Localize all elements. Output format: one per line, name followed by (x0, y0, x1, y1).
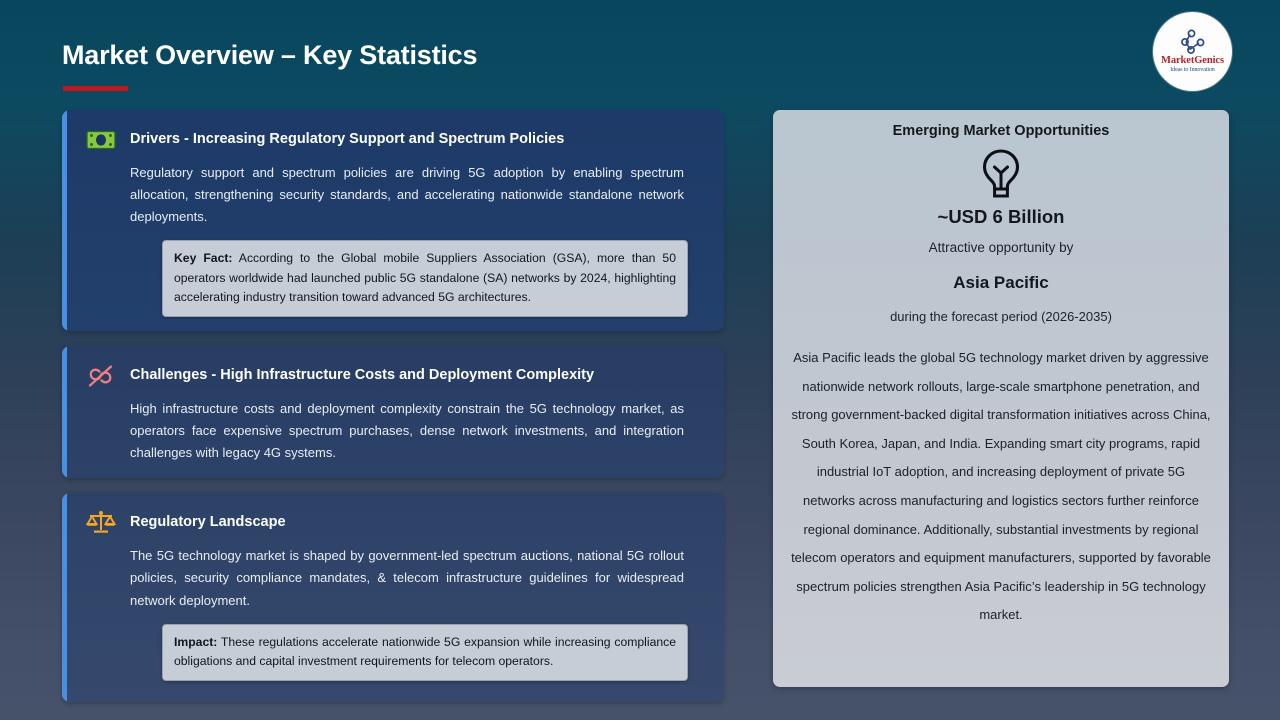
panel-description-paragraph: Asia Pacific leads the global 5G technol… (791, 344, 1211, 630)
title-underline-accent (63, 86, 128, 91)
panel-title: Emerging Market Opportunities (791, 123, 1211, 139)
node-network-icon (1178, 29, 1208, 56)
impact-callout: Impact: These regulations accelerate nat… (162, 624, 688, 682)
card-body-text: Regulatory support and spectrum policies… (130, 162, 702, 228)
callout-text: These regulations accelerate nationwide … (174, 635, 676, 668)
logo-name: MarketGenics (1161, 56, 1224, 67)
panel-subtitle-attractive: Attractive opportunity by (791, 240, 1211, 255)
banknote-icon (84, 123, 118, 157)
card-regulatory-landscape: Regulatory Landscape The 5G technology m… (62, 493, 724, 702)
card-drivers: Drivers - Increasing Regulatory Support … (62, 110, 724, 331)
card-title: Regulatory Landscape (130, 507, 286, 531)
lightbulb-icon (791, 148, 1211, 200)
callout-text: According to the Global mobile Suppliers… (174, 251, 676, 304)
page-title: Market Overview – Key Statistics (62, 40, 477, 71)
insight-cards-column: Drivers - Increasing Regulatory Support … (62, 110, 724, 717)
callout-label: Impact: (174, 635, 217, 649)
panel-opportunity-value: ~USD 6 Billion (791, 206, 1211, 228)
panel-region-name: Asia Pacific (791, 273, 1211, 293)
card-body-text: High infrastructure costs and deployment… (130, 398, 702, 464)
emerging-opportunities-panel: Emerging Market Opportunities ~USD 6 Bil… (773, 110, 1229, 687)
card-header: Drivers - Increasing Regulatory Support … (84, 124, 702, 157)
card-header: Challenges - High Infrastructure Costs a… (84, 360, 702, 393)
panel-forecast-period: during the forecast period (2026-2035) (791, 309, 1211, 324)
logo-tagline: Ideas to Innovation (1170, 67, 1214, 74)
card-challenges: Challenges - High Infrastructure Costs a… (62, 346, 724, 478)
card-header: Regulatory Landscape (84, 507, 702, 540)
key-fact-callout: Key Fact: According to the Global mobile… (162, 240, 688, 317)
balance-scales-icon (84, 506, 118, 540)
callout-label: Key Fact: (174, 251, 232, 265)
brand-logo: MarketGenics Ideas to Innovation (1153, 12, 1232, 91)
slide-root: Market Overview – Key Statistics MarketG… (0, 0, 1280, 720)
card-body-text: The 5G technology market is shaped by go… (130, 545, 702, 611)
card-title: Drivers - Increasing Regulatory Support … (130, 124, 564, 148)
card-title: Challenges - High Infrastructure Costs a… (130, 360, 594, 384)
broken-link-icon (84, 359, 118, 393)
